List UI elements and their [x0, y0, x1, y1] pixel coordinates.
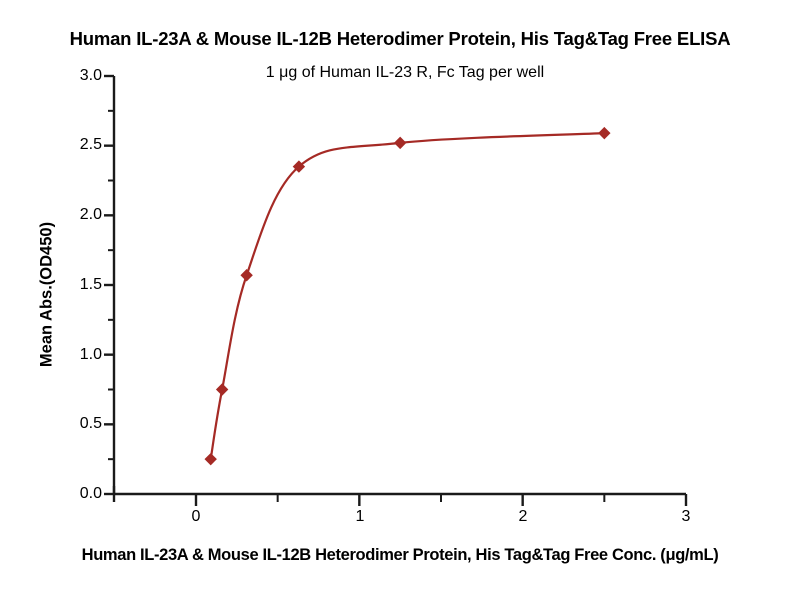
data-point-marker [240, 269, 252, 281]
data-point-marker [216, 383, 228, 395]
plot-area [0, 0, 800, 600]
data-point-marker [205, 453, 217, 465]
data-series-curve [211, 133, 605, 459]
axis-ticks [104, 76, 686, 506]
chart-figure: Human IL-23A & Mouse IL-12B Heterodimer … [0, 0, 800, 600]
data-point-marker [394, 137, 406, 149]
data-series-markers [205, 127, 611, 465]
data-point-marker [598, 127, 610, 139]
